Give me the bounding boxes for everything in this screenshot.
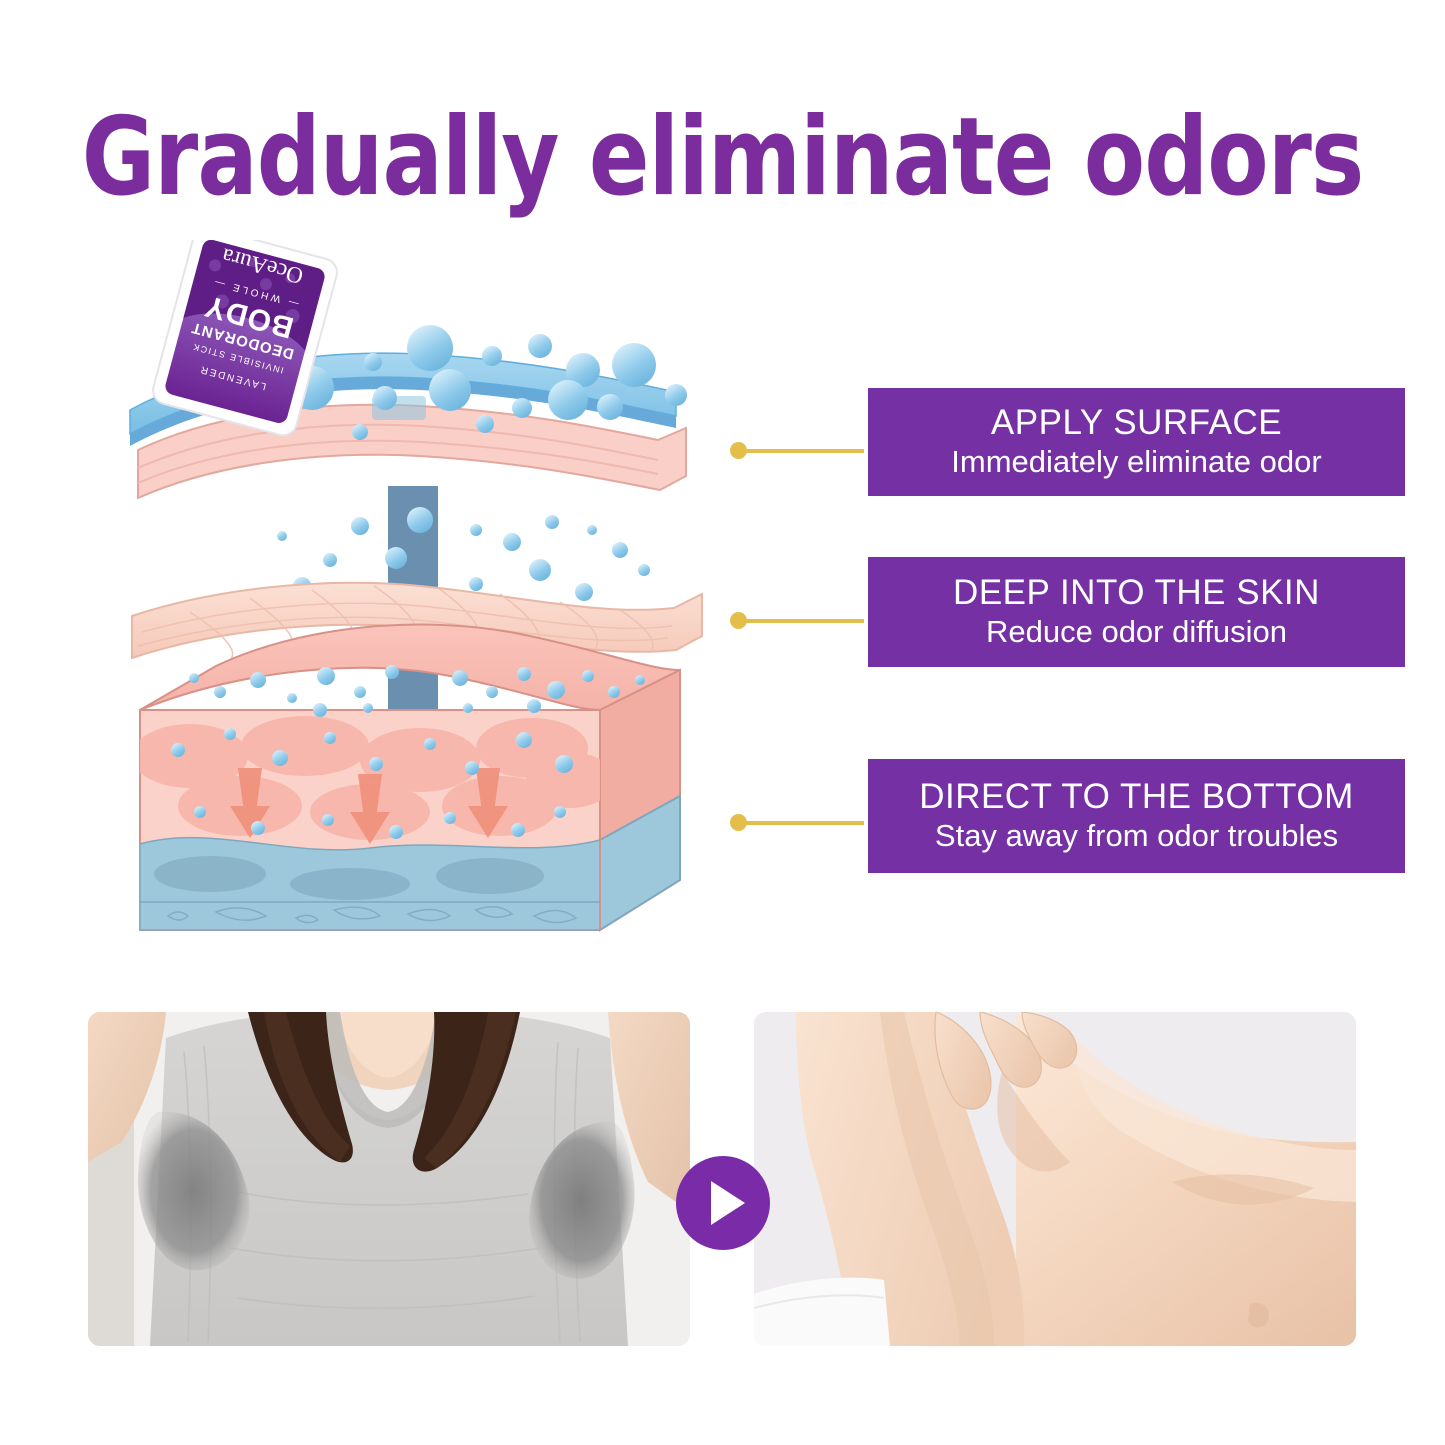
- play-button[interactable]: [676, 1156, 770, 1250]
- step-title: DEEP INTO THE SKIN: [880, 573, 1393, 612]
- step-subtitle: Reduce odor diffusion: [880, 614, 1393, 650]
- step-banner-apply-surface: APPLY SURFACE Immediately eliminate odor: [868, 388, 1405, 496]
- infographic-page: Gradually eliminate odors: [0, 0, 1445, 1445]
- leader-rule: [744, 821, 864, 825]
- step-title: APPLY SURFACE: [880, 403, 1393, 442]
- page-title: Gradually eliminate odors: [58, 104, 1387, 212]
- leader-rule: [744, 449, 864, 453]
- layer-subcutaneous-block: [132, 624, 680, 930]
- step-banner-direct-to-bottom: DIRECT TO THE BOTTOM Stay away from odor…: [868, 759, 1405, 873]
- play-triangle-icon: [711, 1181, 745, 1225]
- skin-layer-penetration-diagram: LAVENDER INVISIBLE STICK DEODORANT BODY …: [120, 240, 740, 970]
- after-clean-underarm-photo: [754, 1012, 1356, 1346]
- leader-rule: [744, 619, 864, 623]
- step-subtitle: Stay away from odor troubles: [880, 818, 1393, 854]
- before-sweat-stains-photo: [88, 1012, 690, 1346]
- step-banner-deep-into-skin: DEEP INTO THE SKIN Reduce odor diffusion: [868, 557, 1405, 667]
- step-title: DIRECT TO THE BOTTOM: [880, 777, 1393, 816]
- step-subtitle: Immediately eliminate odor: [880, 444, 1393, 480]
